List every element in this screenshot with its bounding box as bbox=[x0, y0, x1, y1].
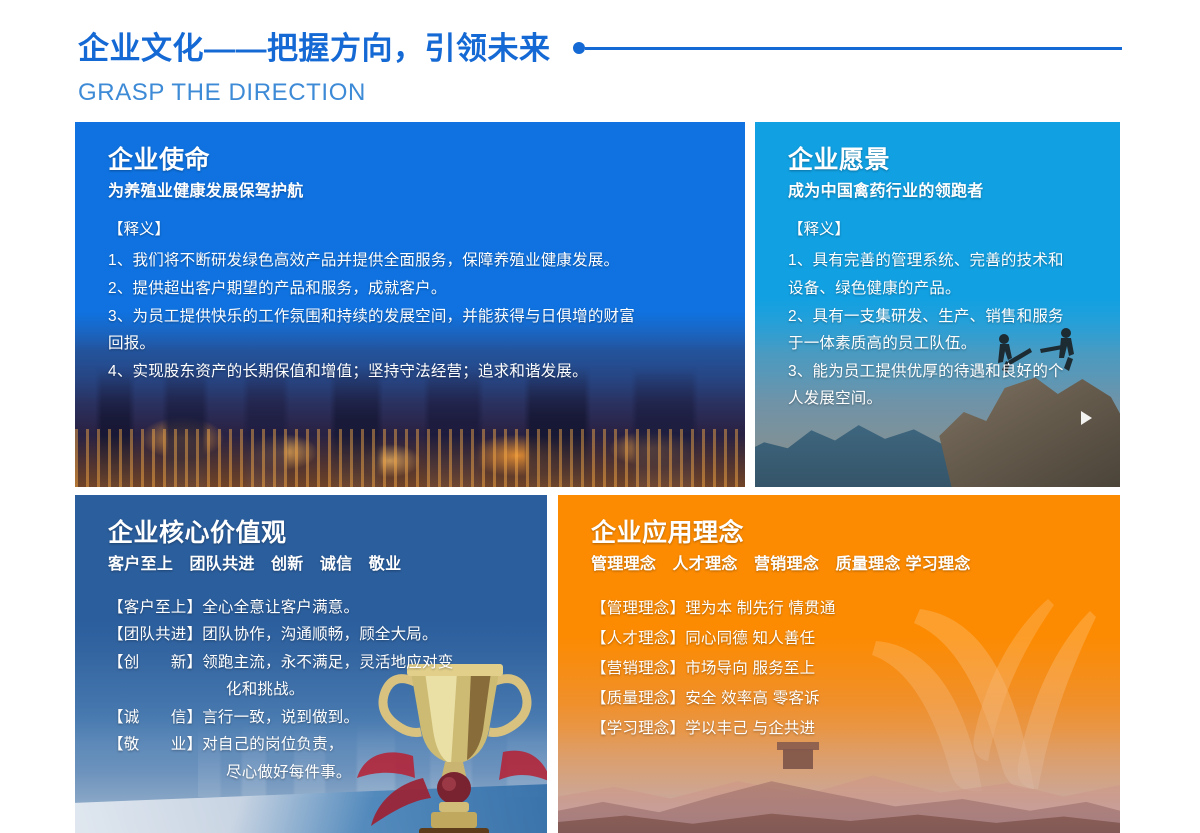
card-slogan: 管理理念 人才理念 营销理念 质量理念 学习理念 bbox=[591, 555, 1092, 576]
card-note-label: 【释义】 bbox=[108, 221, 717, 240]
list-item: 【质量理念】安全 效率高 零客诉 bbox=[591, 684, 1092, 714]
card-note-label: 【释义】 bbox=[788, 221, 1092, 240]
list-item: 【团队共进】团队协作，沟通顺畅，顾全大局。 bbox=[108, 621, 519, 649]
horizontal-rule bbox=[585, 47, 1123, 50]
card-title: 企业核心价值观 bbox=[108, 519, 519, 548]
card-title: 企业愿景 bbox=[788, 146, 1092, 175]
list-item: 3、能为员工提供优厚的待遇和良好的个 bbox=[788, 358, 1092, 386]
bullet-dot-icon bbox=[573, 42, 585, 54]
list-item: 4、实现股东资产的长期保值和增值；坚持守法经营；追求和谐发展。 bbox=[108, 358, 717, 386]
card-list: 1、具有完善的管理系统、完善的技术和 设备、绿色健康的产品。 2、具有一支集研发… bbox=[788, 247, 1092, 412]
list-item: 【诚 信】言行一致，说到做到。 bbox=[108, 704, 519, 732]
card-slogan: 成为中国禽药行业的领跑者 bbox=[788, 182, 1092, 203]
card-corporate-vision: 企业愿景 成为中国禽药行业的领跑者 【释义】 1、具有完善的管理系统、完善的技术… bbox=[755, 122, 1120, 487]
card-title: 企业使命 bbox=[108, 146, 717, 175]
header-title-row: 企业文化——把握方向，引领未来 bbox=[78, 26, 1122, 70]
list-item: 【敬 业】对自己的岗位负责， bbox=[108, 731, 519, 759]
list-item: 3、为员工提供快乐的工作氛围和持续的发展空间，并能获得与日俱增的财富 bbox=[108, 303, 717, 331]
list-item: 设备、绿色健康的产品。 bbox=[788, 275, 1092, 303]
card-content: 企业应用理念 管理理念 人才理念 营销理念 质量理念 学习理念 【管理理念】理为… bbox=[558, 495, 1120, 745]
card-title: 企业应用理念 bbox=[591, 519, 1092, 548]
card-content: 企业使命 为养殖业健康发展保驾护航 【释义】 1、我们将不断研发绿色高效产品并提… bbox=[75, 122, 745, 385]
card-list: 1、我们将不断研发绿色高效产品并提供全面服务，保障养殖业健康发展。 2、提供超出… bbox=[108, 247, 717, 385]
list-item: 1、具有完善的管理系统、完善的技术和 bbox=[788, 247, 1092, 275]
play-icon bbox=[1081, 411, 1092, 425]
card-list: 【管理理念】理为本 制先行 情贯通 【人才理念】同心同德 知人善任 【营销理念】… bbox=[591, 594, 1092, 745]
list-item: 【管理理念】理为本 制先行 情贯通 bbox=[591, 594, 1092, 624]
card-slogan: 为养殖业健康发展保驾护航 bbox=[108, 182, 717, 203]
page-header: 企业文化——把握方向，引领未来 GRASP THE DIRECTION bbox=[78, 26, 1122, 114]
list-item: 2、提供超出客户期望的产品和服务，成就客户。 bbox=[108, 275, 717, 303]
page-title: 企业文化——把握方向，引领未来 bbox=[78, 33, 551, 64]
card-operating-philosophy: 企业应用理念 管理理念 人才理念 营销理念 质量理念 学习理念 【管理理念】理为… bbox=[558, 495, 1120, 833]
list-item: 【学习理念】学以丰己 与企共进 bbox=[591, 714, 1092, 744]
list-item: 【人才理念】同心同德 知人善任 bbox=[591, 624, 1092, 654]
card-slogan: 客户至上 团队共进 创新 诚信 敬业 bbox=[108, 555, 519, 576]
list-item: 1、我们将不断研发绿色高效产品并提供全面服务，保障养殖业健康发展。 bbox=[108, 247, 717, 275]
header-rule bbox=[573, 41, 1123, 55]
card-list: 【客户至上】全心全意让客户满意。 【团队共进】团队协作，沟通顺畅，顾全大局。 【… bbox=[108, 594, 519, 787]
list-item: 【创 新】领跑主流，永不满足，灵活地应对变 bbox=[108, 649, 519, 677]
list-item: 化和挑战。 bbox=[108, 676, 519, 704]
card-content: 企业愿景 成为中国禽药行业的领跑者 【释义】 1、具有完善的管理系统、完善的技术… bbox=[755, 122, 1120, 413]
great-wall-tower bbox=[783, 749, 813, 769]
list-item: 于一体素质高的员工队伍。 bbox=[788, 330, 1092, 358]
list-item: 【营销理念】市场导向 服务至上 bbox=[591, 654, 1092, 684]
page-subtitle: GRASP THE DIRECTION bbox=[78, 80, 1122, 106]
list-item: 尽心做好每件事。 bbox=[108, 759, 519, 787]
list-item: 回报。 bbox=[108, 330, 717, 358]
list-item: 人发展空间。 bbox=[788, 385, 1092, 413]
card-corporate-mission: 企业使命 为养殖业健康发展保驾护航 【释义】 1、我们将不断研发绿色高效产品并提… bbox=[75, 122, 745, 487]
list-item: 2、具有一支集研发、生产、销售和服务 bbox=[788, 303, 1092, 331]
list-item: 【客户至上】全心全意让客户满意。 bbox=[108, 594, 519, 622]
card-content: 企业核心价值观 客户至上 团队共进 创新 诚信 敬业 【客户至上】全心全意让客户… bbox=[75, 495, 547, 787]
card-core-values: 企业核心价值观 客户至上 团队共进 创新 诚信 敬业 【客户至上】全心全意让客户… bbox=[75, 495, 547, 833]
